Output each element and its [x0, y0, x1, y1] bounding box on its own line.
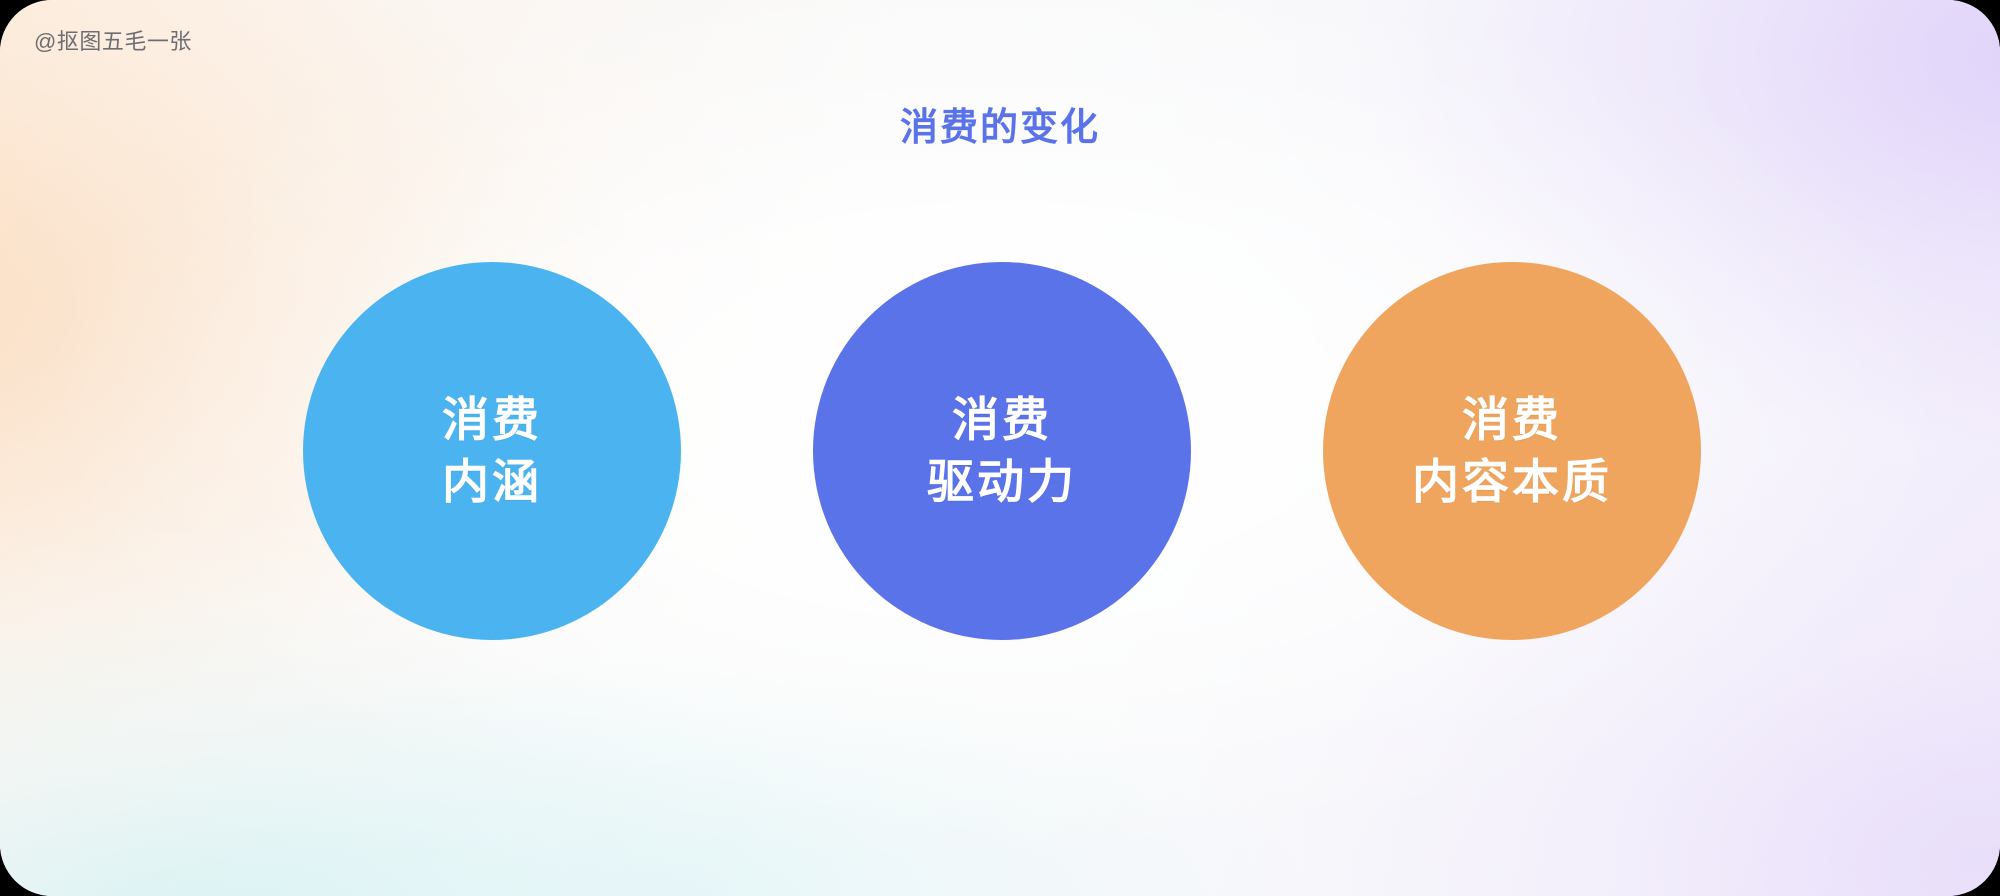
page-title-text: 消费的变化: [900, 106, 1100, 150]
concept-circle-line-1: 消费: [952, 389, 1052, 451]
concept-circle-line-1: 消费: [442, 389, 542, 451]
slide-card: @抠图五毛一张 消费的变化 消费 内涵 消费 驱动力 消费 内容本质: [0, 0, 2000, 896]
concept-circle-consumption-driver[interactable]: 消费 驱动力: [813, 262, 1191, 640]
concept-circle-row: 消费 内涵 消费 驱动力 消费 内容本质: [0, 262, 2000, 642]
concept-circle-line-2: 内容本质: [1412, 451, 1612, 513]
concept-circle-line-1: 消费: [1462, 389, 1562, 451]
concept-circle-line-2: 内涵: [442, 451, 542, 513]
concept-circle-line-2: 驱动力: [927, 451, 1077, 513]
page-title: 消费的变化: [0, 106, 2000, 150]
concept-circle-consumption-connotation[interactable]: 消费 内涵: [303, 262, 681, 640]
watermark-label: @抠图五毛一张: [34, 28, 192, 56]
concept-circle-consumption-content-essence[interactable]: 消费 内容本质: [1323, 262, 1701, 640]
